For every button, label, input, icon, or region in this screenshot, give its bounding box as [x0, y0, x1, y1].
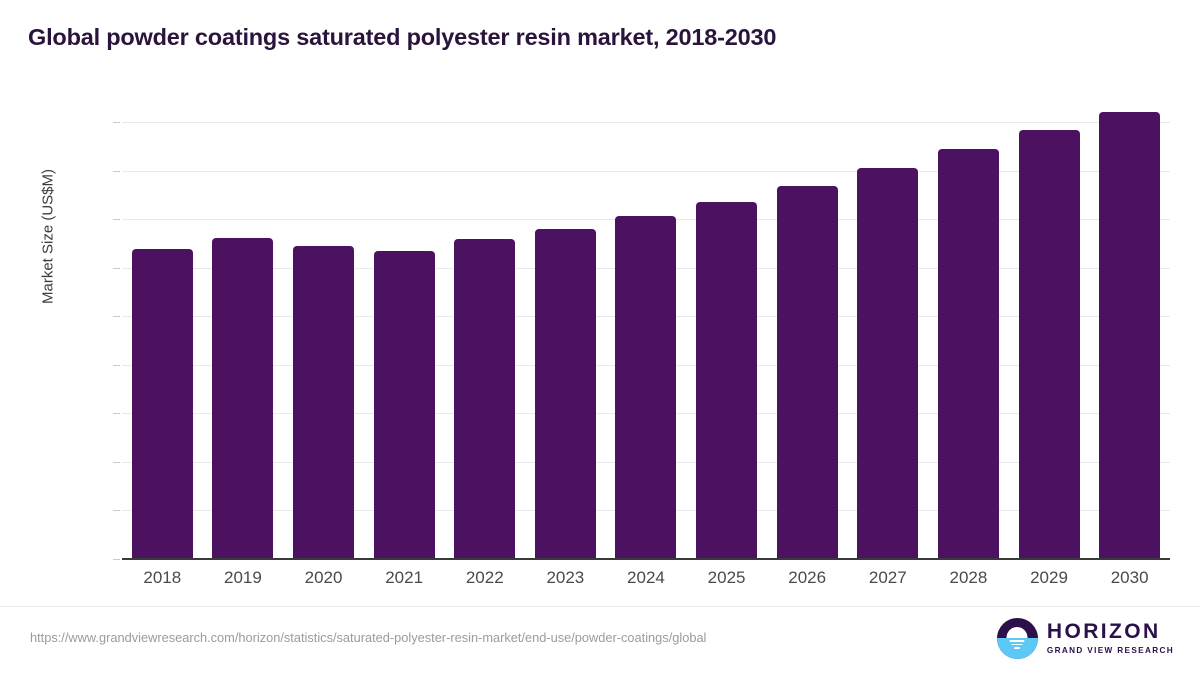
bar-2023[interactable] [535, 229, 596, 559]
bar-slot [928, 122, 1009, 559]
horizon-logo-icon [997, 618, 1038, 659]
x-axis-tick-label: 2030 [1089, 568, 1170, 588]
y-axis-tickmark [113, 510, 120, 511]
bar-2020[interactable] [293, 246, 354, 559]
bar-slot [122, 122, 203, 559]
bar-slot [686, 122, 767, 559]
bar-2028[interactable] [938, 149, 999, 559]
bar-slot [444, 122, 525, 559]
y-axis-title: Market Size (US$M) [40, 127, 57, 347]
y-axis-tickmark [113, 316, 120, 317]
bar-slot [283, 122, 364, 559]
bar-2025[interactable] [696, 202, 757, 559]
bar-slot [364, 122, 445, 559]
bar-2022[interactable] [454, 239, 515, 559]
bar-2021[interactable] [374, 251, 435, 559]
x-axis-tick-label: 2020 [283, 568, 364, 588]
bar-series [122, 122, 1170, 559]
y-axis-tickmark [113, 268, 120, 269]
bar-slot [606, 122, 687, 559]
x-axis-line [122, 558, 1170, 560]
x-axis-tick-label: 2019 [203, 568, 284, 588]
x-axis-tick-label: 2027 [847, 568, 928, 588]
x-axis-tick-label: 2025 [686, 568, 767, 588]
bar-slot [203, 122, 284, 559]
bar-2030[interactable] [1099, 112, 1160, 559]
y-axis-tickmark [113, 365, 120, 366]
y-axis-tickmark [113, 413, 120, 414]
bar-2024[interactable] [615, 216, 676, 559]
page-title: Global powder coatings saturated polyest… [28, 24, 776, 51]
x-axis-tick-label: 2024 [606, 568, 687, 588]
x-axis-tick-label: 2022 [444, 568, 525, 588]
bar-2029[interactable] [1019, 130, 1080, 559]
bar-slot [1089, 122, 1170, 559]
x-axis-tick-label: 2028 [928, 568, 1009, 588]
footer-divider [0, 606, 1200, 607]
y-axis-tickmark [113, 122, 120, 123]
logo-tagline: GRAND VIEW RESEARCH [1047, 646, 1174, 655]
bar-2026[interactable] [777, 186, 838, 559]
bar-slot [767, 122, 848, 559]
bar-slot [847, 122, 928, 559]
x-axis-tick-label: 2023 [525, 568, 606, 588]
x-axis-tick-label: 2029 [1009, 568, 1090, 588]
chart-canvas: Global powder coatings saturated polyest… [0, 0, 1200, 675]
y-axis-tickmark [113, 171, 120, 172]
y-axis-tickmark [113, 559, 120, 560]
logo-name: HORIZON [1047, 621, 1174, 643]
plot-area: 2250200017501500125010007505002500 [122, 122, 1170, 559]
x-axis-tick-label: 2021 [364, 568, 445, 588]
source-url[interactable]: https://www.grandviewresearch.com/horizo… [30, 630, 706, 645]
x-axis-tick-label: 2018 [122, 568, 203, 588]
horizon-logo[interactable]: HORIZON GRAND VIEW RESEARCH [997, 616, 1174, 660]
y-axis-tickmark [113, 462, 120, 463]
bar-2018[interactable] [132, 249, 193, 559]
y-axis-tickmark [113, 219, 120, 220]
x-axis-tick-labels: 2018201920202021202220232024202520262027… [122, 568, 1170, 588]
bar-slot [1009, 122, 1090, 559]
x-axis-tick-label: 2026 [767, 568, 848, 588]
bar-2027[interactable] [857, 168, 918, 559]
bar-slot [525, 122, 606, 559]
bar-2019[interactable] [212, 238, 273, 559]
